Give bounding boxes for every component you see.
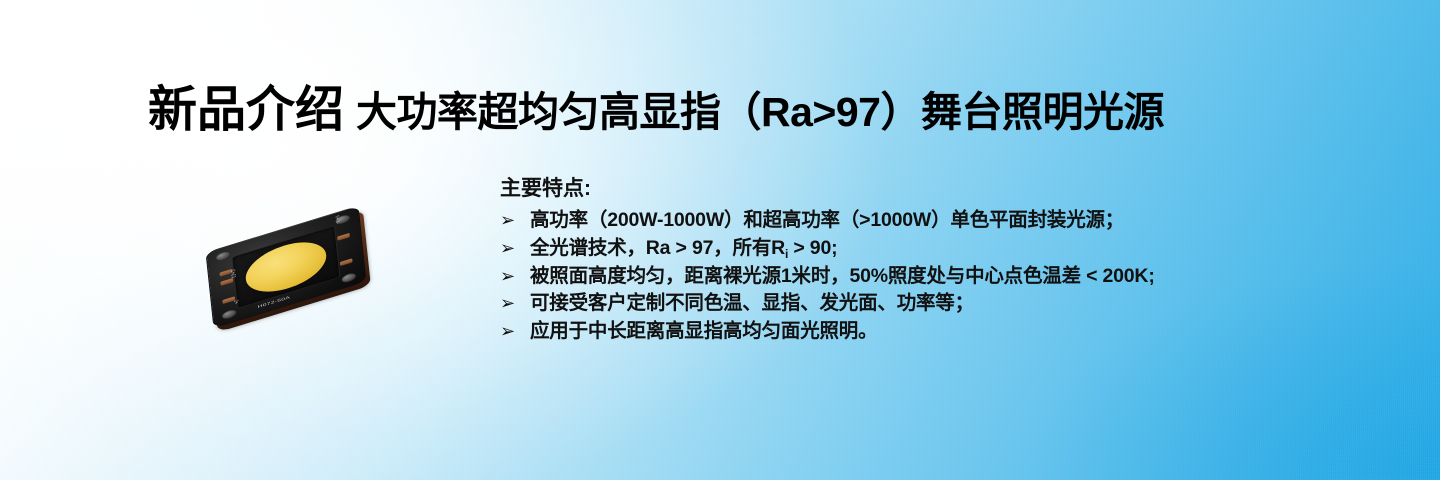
list-item-text-pre: 应用于中长距离高显指高均匀面光照明。 (530, 320, 877, 342)
page-title: 新品介绍 大功率超均匀高显指（Ra>97）舞台照明光源 (148, 86, 1164, 135)
list-item-text-pre: 被照面高度均匀，距离裸光源1米时，50%照度处与中心点色温差 < 200K; (530, 265, 1155, 287)
list-item-text: 可接受客户定制不同色温、显指、发光面、功率等； (530, 290, 974, 318)
list-item-text-pre: 可接受客户定制不同色温、显指、发光面、功率等； (530, 292, 974, 314)
list-item: ➢ 高功率（200W-1000W）和超高功率（>1000W）单色平面封装光源； (500, 207, 1380, 235)
list-item: ➢ 全光谱技术，Ra > 97，所有Ri > 90; (500, 235, 1380, 263)
mounting-hole-bottom-right (341, 272, 356, 284)
list-item-text: 全光谱技术，Ra > 97，所有Ri > 90; (530, 235, 837, 263)
list-item-text: 应用于中长距离高显指高均匀面光照明。 (530, 318, 877, 346)
list-item-text-post: > 90; (788, 237, 837, 259)
led-board: C+C1 2+ V+ V- H072-50A (206, 206, 367, 329)
list-item: ➢ 被照面高度均匀，距离裸光源1米时，50%照度处与中心点色温差 < 200K; (500, 263, 1380, 291)
list-item-text: 被照面高度均匀，距离裸光源1米时，50%照度处与中心点色温差 < 200K; (530, 263, 1155, 291)
solder-pad (220, 278, 233, 286)
features-block: 主要特点: ➢ 高功率（200W-1000W）和超高功率（>1000W）单色平面… (500, 176, 1380, 346)
arrow-bullet-icon: ➢ (500, 290, 530, 317)
list-item-text-pre: 全光谱技术，Ra > 97，所有R (530, 237, 785, 259)
list-item-text: 高功率（200W-1000W）和超高功率（>1000W）单色平面封装光源； (530, 207, 1124, 235)
arrow-bullet-icon: ➢ (500, 207, 530, 234)
features-heading: 主要特点: (500, 176, 1380, 202)
mounting-hole-bottom-left (222, 308, 237, 320)
list-item-text-sub: i (785, 247, 788, 261)
slide-canvas: 新品介绍 大功率超均匀高显指（Ra>97）舞台照明光源 C+C1 2+ V+ V… (0, 0, 1440, 480)
arrow-bullet-icon: ➢ (500, 318, 530, 345)
solder-pad (340, 258, 353, 266)
list-item-text-pre: 高功率（200W-1000W）和超高功率（>1000W）单色平面封装光源； (530, 209, 1124, 231)
silkscreen-right-upper: V+ V- (333, 215, 340, 225)
page-title-rest: 大功率超均匀高显指（Ra>97）舞台照明光源 (356, 92, 1164, 133)
arrow-bullet-icon: ➢ (500, 235, 530, 262)
solder-pad (337, 233, 350, 241)
list-item: ➢ 可接受客户定制不同色温、显指、发光面、功率等； (500, 290, 1380, 318)
features-bullet-list: ➢ 高功率（200W-1000W）和超高功率（>1000W）单色平面封装光源； … (500, 207, 1380, 345)
list-item: ➢ 应用于中长距离高显指高均匀面光照明。 (500, 318, 1380, 346)
silkscreen-left-upper: C+C1 (229, 269, 236, 279)
product-image-cob-led: C+C1 2+ V+ V- H072-50A (196, 186, 411, 314)
mounting-hole-top-left (216, 250, 231, 262)
arrow-bullet-icon: ➢ (500, 263, 530, 290)
page-title-lead: 新品介绍 (148, 86, 344, 135)
